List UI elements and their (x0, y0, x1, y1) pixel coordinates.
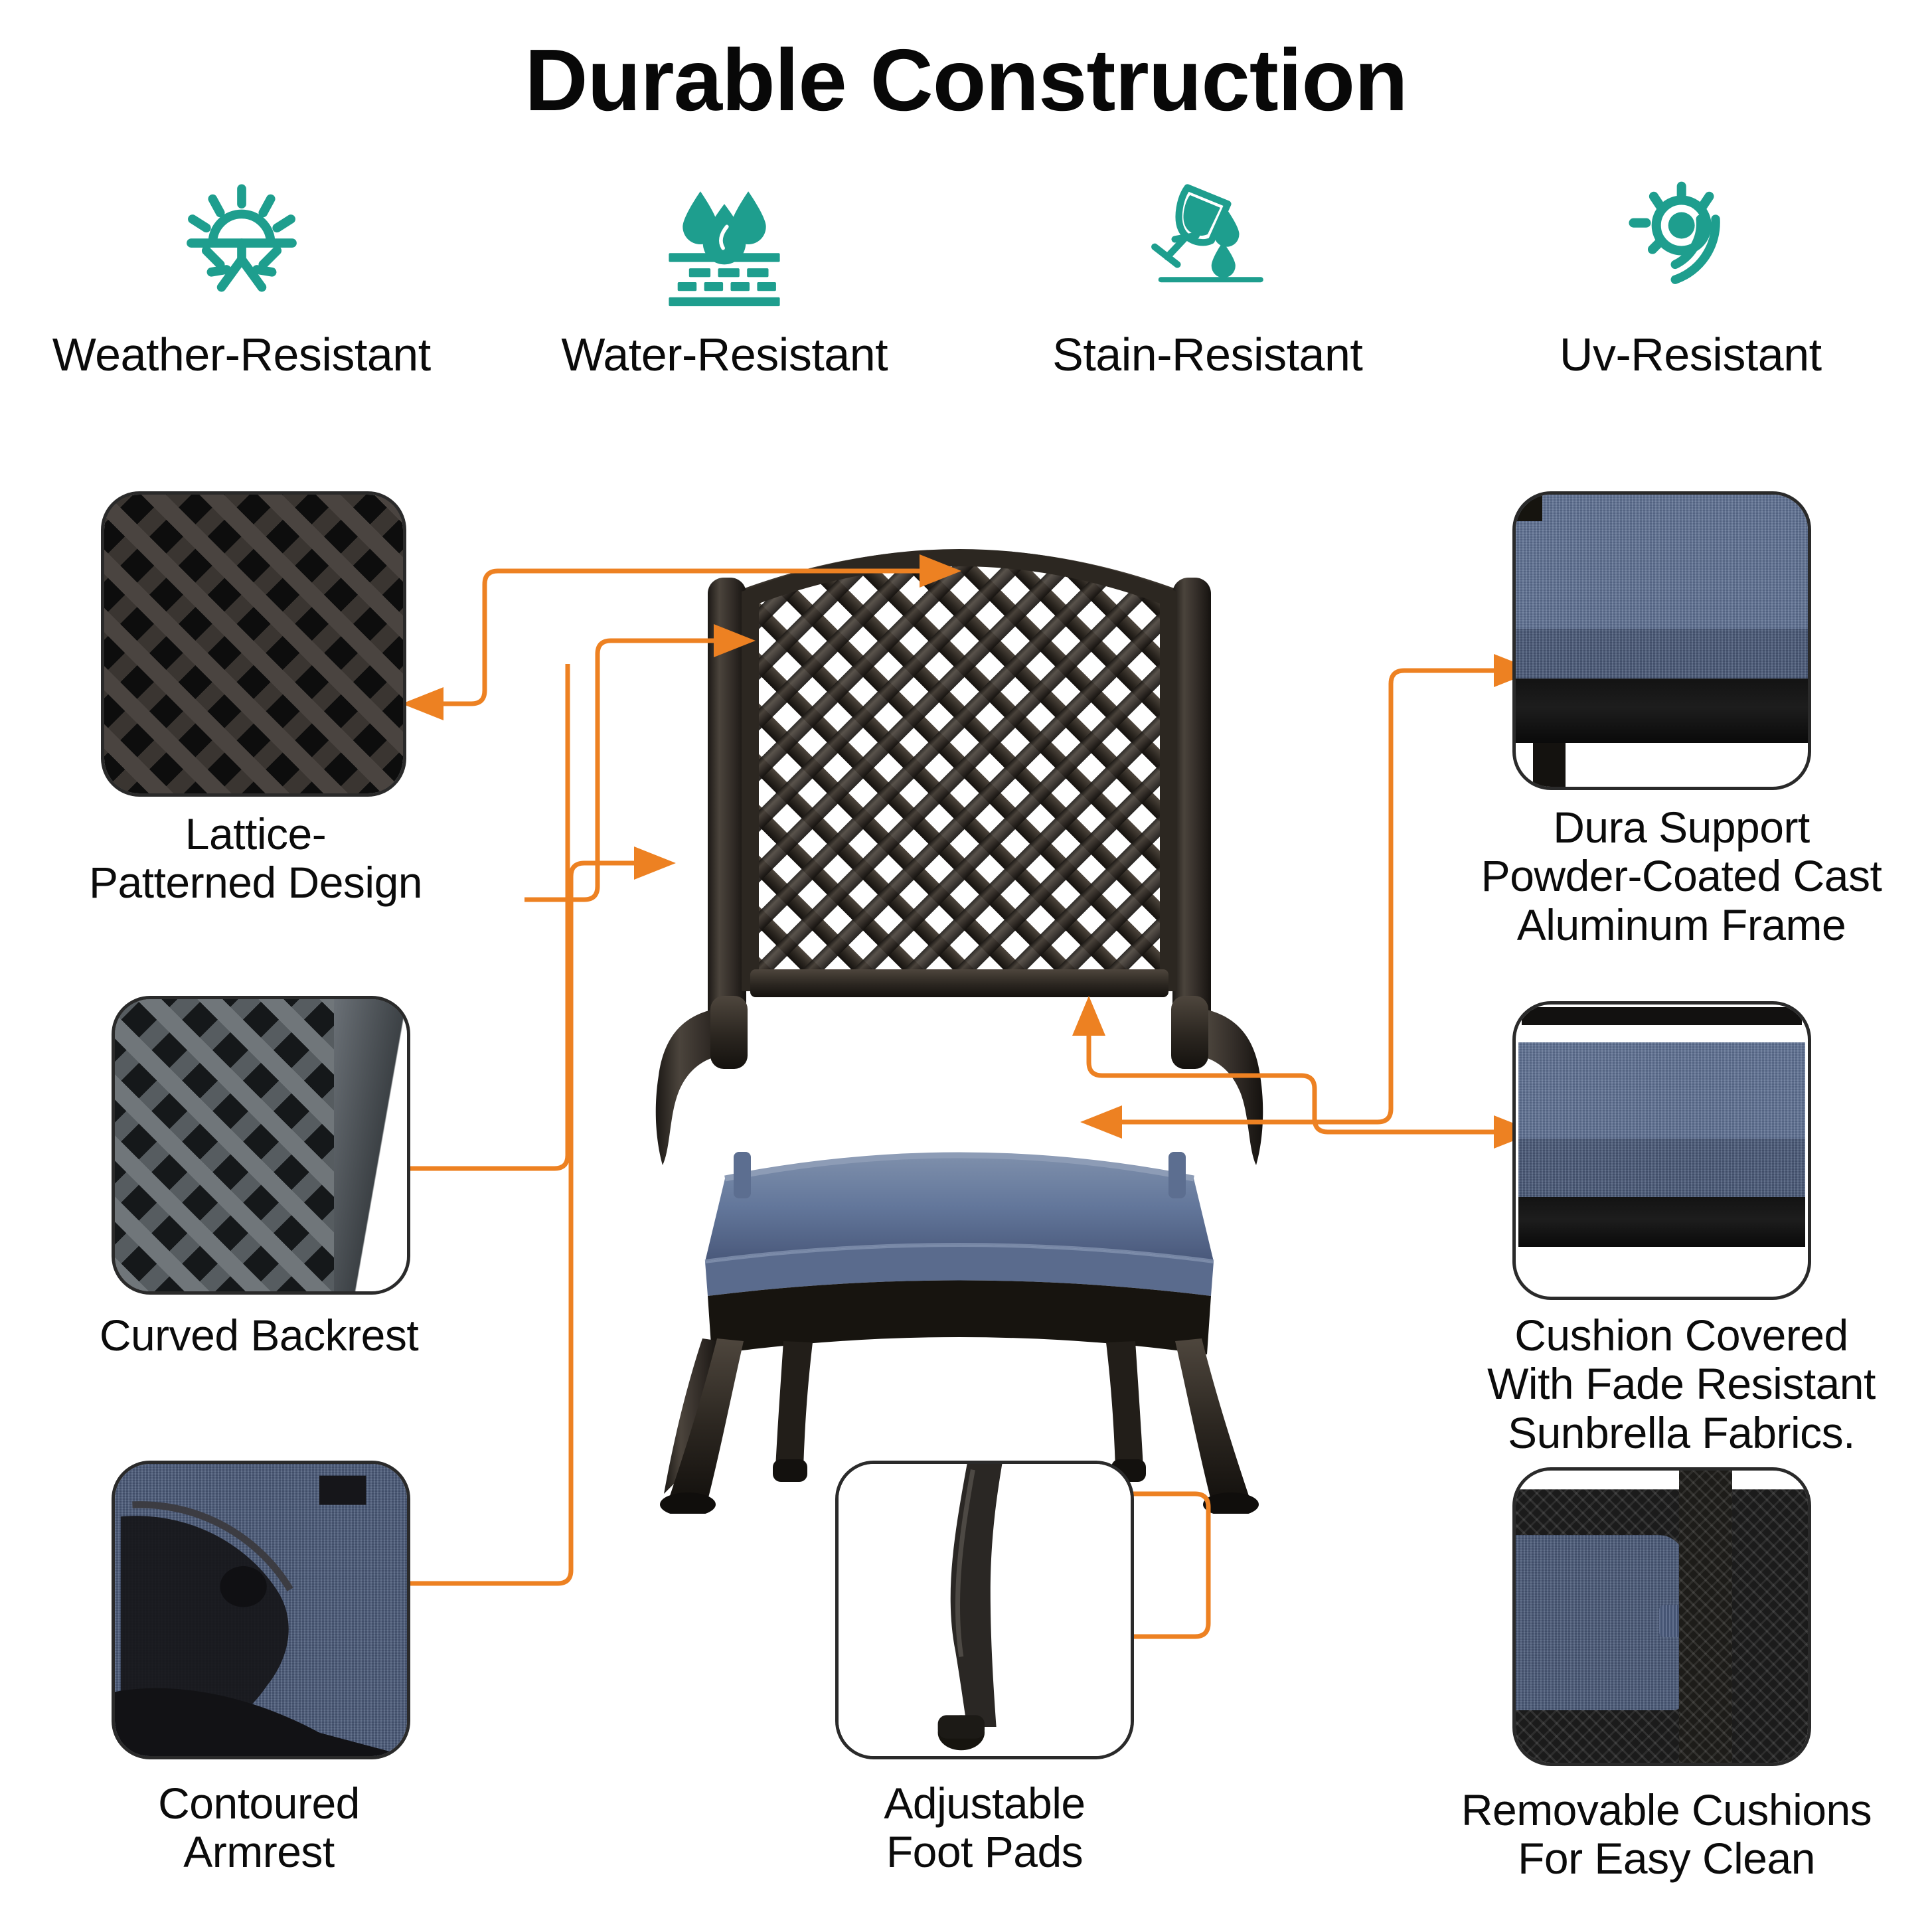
thumbnail-removable-cushions[interactable] (1512, 1467, 1811, 1766)
feature-label: Stain-Resistant (1052, 328, 1362, 381)
caption-dura-support-frame: Dura Support Powder-Coated Cast Aluminum… (1434, 803, 1929, 949)
caption-sunbrella-fabric-cushion: Cushion Covered With Fade Resistant Sunb… (1434, 1311, 1929, 1457)
lattice-close-up-photo (104, 495, 403, 793)
feature-weather-resistant: Weather-Resistant (0, 178, 483, 381)
feature-label: Water-Resistant (561, 328, 888, 381)
product-hero-image (584, 478, 1334, 1514)
half-sun-snowflake-icon (165, 178, 318, 311)
sun-uv-waves-icon (1614, 178, 1767, 311)
contoured-armrest-close-up-photo (115, 1464, 407, 1756)
caption-curved-backrest: Curved Backrest (13, 1311, 505, 1360)
tilted-wine-glass-spill-icon (1131, 178, 1284, 311)
thumbnail-contoured-armrest[interactable] (112, 1461, 410, 1759)
thumbnail-lattice-patterned-design[interactable] (101, 491, 406, 797)
cushion-tie-strap-close-up-photo (1516, 1471, 1808, 1763)
cushion-edge-close-up-photo (1516, 1005, 1808, 1297)
caption-removable-cushions: Removable Cushions For Easy Clean (1401, 1786, 1932, 1884)
thumbnail-adjustable-foot-pads[interactable] (835, 1461, 1134, 1759)
thumbnail-sunbrella-fabric-cushion[interactable] (1512, 1001, 1811, 1300)
cushion-on-frame-close-up-photo (1516, 495, 1808, 787)
thumbnail-dura-support-frame[interactable] (1512, 491, 1811, 790)
infographic-canvas: Durable Construction (0, 0, 1932, 1932)
thumbnail-curved-backrest[interactable] (112, 996, 410, 1295)
caption-lattice-patterned-design: Lattice- Patterned Design (13, 810, 498, 908)
feature-water-resistant: Water-Resistant (483, 178, 967, 381)
feature-label: Weather-Resistant (52, 328, 431, 381)
caption-contoured-armrest: Contoured Armrest (13, 1779, 505, 1877)
feature-stain-resistant: Stain-Resistant (966, 178, 1449, 381)
feature-badge-strip: Weather-Resistant (0, 178, 1932, 443)
caption-adjustable-foot-pads: Adjustable Foot Pads (737, 1779, 1232, 1877)
feature-label: Uv-Resistant (1560, 328, 1822, 381)
feature-uv-resistant: Uv-Resistant (1449, 178, 1932, 381)
foot-pad-close-up-photo (839, 1464, 1131, 1756)
curved-backrest-close-up-photo (115, 999, 407, 1291)
water-droplets-fabric-layers-icon (648, 178, 801, 311)
page-title: Durable Construction (0, 35, 1932, 127)
